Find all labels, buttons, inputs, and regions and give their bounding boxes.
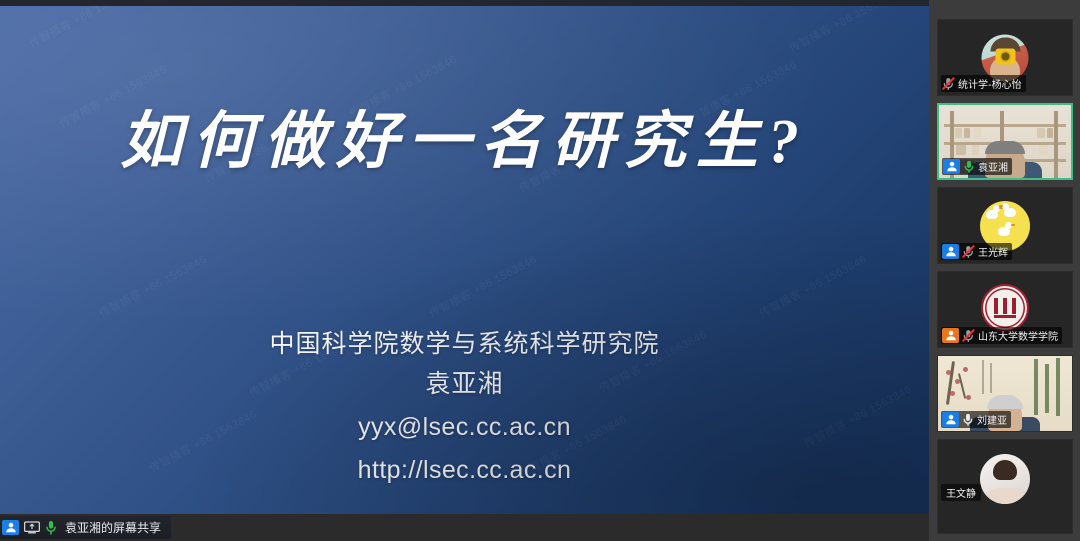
person-icon bbox=[2, 520, 19, 535]
presentation-slide[interactable]: 传智播客 +86 1563846 传智播客 +86 1563846 传智播客 +… bbox=[0, 6, 929, 514]
slide-watermark: 传智播客 +86 1563846 bbox=[96, 251, 209, 321]
participant-name: 刘建亚 bbox=[977, 412, 1007, 427]
slide-institute: 中国科学院数学与系统科学研究院 bbox=[0, 324, 929, 364]
microphone-icon bbox=[963, 160, 975, 173]
shared-screen-area[interactable]: 传智播客 +86 1563846 传智播客 +86 1563846 传智播客 +… bbox=[0, 0, 929, 541]
participant-tile-active-speaker[interactable]: 袁亚湘 bbox=[937, 103, 1073, 180]
microphone-muted-icon bbox=[962, 245, 975, 258]
slide-watermark: 传智播客 +86 1563846 bbox=[786, 6, 899, 56]
participant-tile[interactable]: 王光辉 bbox=[937, 187, 1073, 264]
person-icon bbox=[943, 159, 960, 174]
participant-tile[interactable]: 统计学-杨心怡 bbox=[937, 19, 1073, 96]
participant-gallery[interactable]: 统计学-杨心怡 bbox=[929, 0, 1080, 541]
participant-tile[interactable]: 刘建亚 bbox=[937, 355, 1073, 432]
participant-badge: 统计学-杨心怡 bbox=[941, 75, 1026, 92]
participant-badge: 山东大学数学学院 bbox=[941, 327, 1062, 344]
slide-watermark: 传智播客 +86 1563846 bbox=[426, 251, 539, 321]
participant-name: 袁亚湘 bbox=[978, 159, 1008, 174]
slide-email: yyx@lsec.cc.ac.cn bbox=[0, 404, 929, 447]
participant-badge: 袁亚湘 bbox=[942, 158, 1012, 175]
participant-name: 王光辉 bbox=[978, 244, 1008, 259]
person-icon bbox=[942, 412, 959, 427]
participant-name: 山东大学数学学院 bbox=[978, 328, 1058, 343]
microphone-muted-icon bbox=[962, 329, 975, 342]
person-icon bbox=[942, 244, 959, 259]
conference-window: 传智播客 +86 1563846 传智播客 +86 1563846 传智播客 +… bbox=[0, 0, 1080, 541]
slide-author: 袁亚湘 bbox=[0, 364, 929, 404]
participant-name: 统计学-杨心怡 bbox=[958, 76, 1022, 91]
participant-badge: 刘建亚 bbox=[941, 411, 1011, 428]
person-icon bbox=[942, 328, 959, 343]
participant-tile[interactable]: 王文静 bbox=[937, 439, 1073, 534]
microphone-icon bbox=[962, 413, 974, 426]
participant-tile[interactable]: 山东大学数学学院 bbox=[937, 271, 1073, 348]
screen-share-status-label: 袁亚湘的屏幕共享 bbox=[65, 519, 161, 536]
slide-watermark: 传智播客 +86 1563846 bbox=[756, 251, 869, 321]
microphone-muted-icon bbox=[942, 77, 955, 90]
participant-name: 王文静 bbox=[946, 485, 976, 500]
screen-share-status-bar[interactable]: 袁亚湘的屏幕共享 bbox=[0, 516, 171, 539]
slide-website: http://lsec.cc.ac.cn bbox=[0, 447, 929, 490]
participant-badge: 王光辉 bbox=[941, 243, 1012, 260]
slide-title: 如何做好一名研究生? bbox=[0, 90, 929, 180]
photographer-avatar bbox=[982, 34, 1029, 81]
screen-share-icon bbox=[24, 521, 40, 534]
slide-watermark: 传智播客 +86 1563846 bbox=[26, 6, 139, 51]
slide-body: 中国科学院数学与系统科学研究院 袁亚湘 yyx@lsec.cc.ac.cn ht… bbox=[0, 324, 929, 490]
participant-badge: 王文静 bbox=[941, 484, 981, 501]
portrait-avatar bbox=[980, 454, 1030, 504]
microphone-icon bbox=[45, 520, 57, 535]
university-seal-avatar bbox=[981, 284, 1029, 332]
